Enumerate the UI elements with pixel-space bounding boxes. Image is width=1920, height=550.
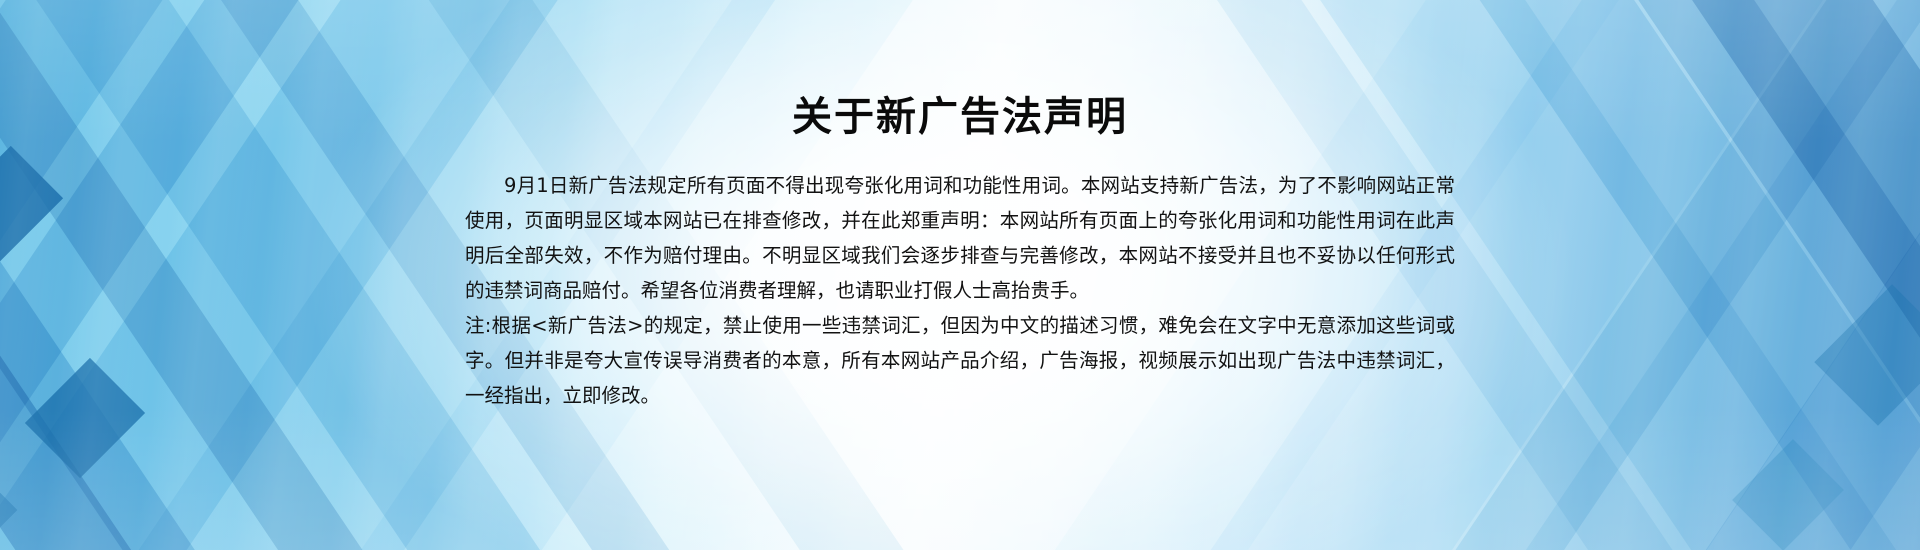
deep-blue-diamond-1	[0, 146, 63, 266]
diagonal-band-right-6	[1398, 0, 1920, 550]
diagonal-band-left-2	[0, 0, 328, 550]
statement-paragraph-note: 注:根据<新广告法>的规定，禁止使用一些违禁词汇，但因为中文的描述习惯，难免会在…	[465, 308, 1455, 413]
diagonal-band-left-4	[0, 0, 389, 550]
statement-paragraph-main: 9月1日新广告法规定所有页面不得出现夸张化用词和功能性用词。本网站支持新广告法，…	[465, 168, 1455, 308]
statement-content: 关于新广告法声明 9月1日新广告法规定所有页面不得出现夸张化用词和功能性用词。本…	[465, 0, 1455, 550]
deep-blue-diamond-5	[1732, 439, 1844, 550]
diagonal-band-right-1	[1622, 0, 1920, 550]
deep-blue-diamond-4	[1814, 284, 1920, 425]
diagonal-band-left-1	[0, 0, 241, 550]
statement-body: 9月1日新广告法规定所有页面不得出现夸张化用词和功能性用词。本网站支持新广告法，…	[465, 168, 1455, 413]
deep-blue-diamond-3	[0, 468, 17, 550]
advertising-law-statement-banner: 关于新广告法声明 9月1日新广告法规定所有页面不得出现夸张化用词和功能性用词。本…	[0, 0, 1920, 550]
diagonal-band-right-2	[1541, 0, 1920, 550]
diagonal-band-left-3	[0, 0, 231, 550]
diagonal-band-left-6	[0, 0, 489, 550]
deep-blue-diamond-2	[25, 358, 145, 478]
page-title: 关于新广告法声明	[465, 0, 1455, 142]
diagonal-band-right-5	[1577, 0, 1920, 550]
diagonal-band-right-3	[1400, 0, 1920, 550]
